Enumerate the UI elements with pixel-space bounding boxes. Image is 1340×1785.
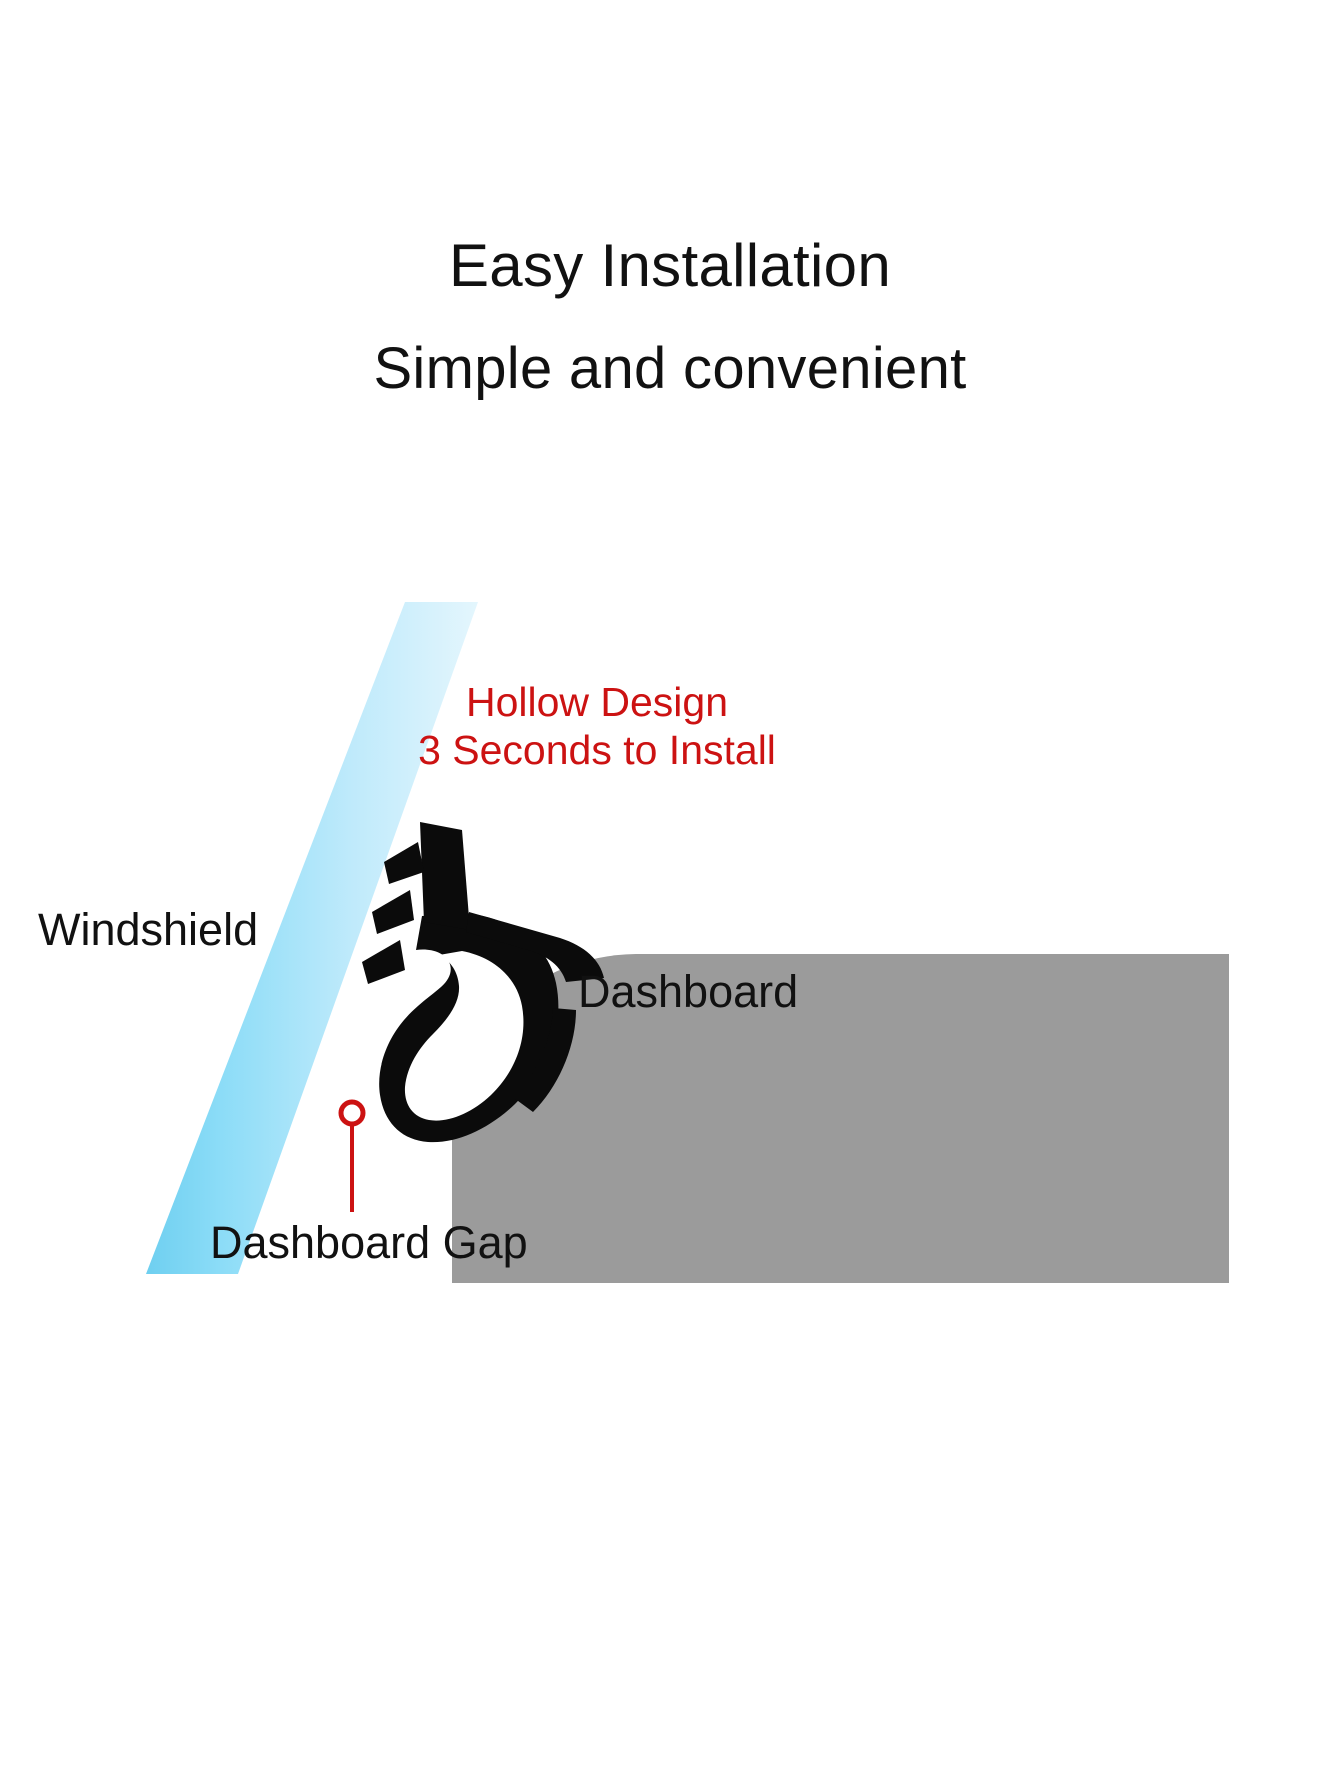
label-dashboard: Dashboard [578, 967, 798, 1017]
label-dashboard-gap: Dashboard Gap [210, 1218, 528, 1268]
gap-marker-circle [341, 1102, 363, 1124]
product-diagram-page: Easy Installation Simple and convenient [0, 0, 1340, 1785]
dashboard-gap-callout [341, 1102, 363, 1212]
dashboard-surface [452, 954, 1229, 1283]
installation-diagram [0, 0, 1340, 1785]
callout-line-seconds-to-install: 3 Seconds to Install [382, 726, 812, 774]
label-windshield: Windshield [38, 905, 258, 955]
callout-line-hollow-design: Hollow Design [382, 678, 812, 726]
hollow-design-callout: Hollow Design 3 Seconds to Install [382, 678, 812, 775]
